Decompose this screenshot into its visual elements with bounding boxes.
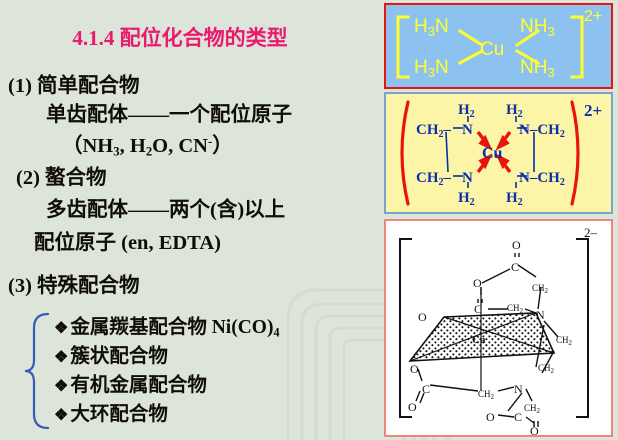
- label-o-left-lower: O: [410, 362, 419, 376]
- diamond-bullet-icon: ❖: [54, 349, 68, 366]
- outline-item-1: (1) 简单配合物: [8, 68, 140, 98]
- diamond-bullet-icon: ❖: [54, 320, 68, 337]
- figure-bis-ethylenediamine-copper: H2 H2 H2 H2 CH2– CH2– N N N–CH2 N–CH2 Cu…: [384, 92, 613, 214]
- ligand-h3n-top-left: H3N: [414, 16, 449, 39]
- label-n-bottom-left: N: [462, 170, 473, 186]
- label-h2-top-left: H2: [458, 102, 475, 120]
- outline-item-1b: （NH3, H2O, CN-）: [62, 128, 233, 160]
- label-o-left-upper: O: [418, 310, 427, 324]
- label-h2-top-right: H2: [506, 102, 523, 120]
- outline-column: 4.1.4 配位化合物的类型 (1) 简单配合物 单齿配体——一个配位原子 （N…: [0, 0, 378, 440]
- outline-item-1a: 单齿配体——一个配位原子: [46, 97, 292, 127]
- label-ch2-lower-right: CH2: [524, 403, 541, 415]
- page-title: 4.1.4 配位化合物的类型: [0, 22, 360, 52]
- en-structure-svg: H2 H2 H2 H2 CH2– CH2– N N N–CH2 N–CH2 Cu…: [386, 94, 611, 212]
- label-o-lower: O: [486, 410, 495, 424]
- bullet-carbonyl: ❖金属羰基配合物 Ni(CO)4: [54, 310, 280, 340]
- outline-item-2: (2) 螯合物: [16, 160, 107, 190]
- bullet-macrocyclic-label: 大环配合物: [70, 404, 168, 425]
- label-n-bottom-right: N–CH2: [519, 170, 565, 188]
- formula-h2o: H2O,: [130, 135, 179, 157]
- outline-item-2a: 多齿配体——两个(含)以上: [46, 192, 285, 222]
- edta-structure-svg: 2– Ca: [386, 221, 611, 435]
- bullet-macrocyclic: ❖大环配合物: [54, 397, 168, 426]
- charge-label-2plus: 2+: [584, 8, 602, 25]
- label-n-top-left: N: [462, 122, 473, 138]
- outline-item-2b: 配位原子 (en, EDTA): [34, 225, 221, 255]
- label-ch2-right-lower: CH2: [538, 363, 555, 375]
- label-c-upper-mid: C: [474, 302, 482, 316]
- diamond-bullet-icon: ❖: [54, 407, 68, 424]
- diamond-bullet-icon: ❖: [54, 378, 68, 395]
- formula-cn: CN-）: [178, 135, 232, 157]
- label-c-carboxyl-left: C: [422, 382, 430, 396]
- bullet-cluster-label: 簇状配合物: [70, 346, 168, 367]
- slide-root: 4.1.4 配位化合物的类型 (1) 简单配合物 单齿配体——一个配位原子 （N…: [0, 0, 618, 440]
- label-n-lower: N: [514, 382, 523, 396]
- label-n-upper: N: [536, 308, 545, 322]
- center-atom-cu: Cu: [482, 145, 503, 162]
- label-ch2-top-left: CH2–: [416, 122, 452, 140]
- label-o-carbonyl-top: O: [512, 238, 521, 252]
- label-ch2-lower-mid: CH2: [478, 389, 495, 401]
- label-h2-bottom-right: H2: [506, 190, 523, 208]
- outline-item-3: (3) 特殊配合物: [8, 268, 140, 298]
- label-h2-bottom-left: H2: [458, 190, 475, 208]
- bullet-organometallic-label: 有机金属配合物: [70, 375, 207, 396]
- label-ch2-right-upper: CH2: [556, 335, 573, 347]
- label-n-top-right: N–CH2: [519, 122, 565, 140]
- bullet-carbonyl-label: 金属羰基配合物 Ni(CO)4: [70, 317, 279, 338]
- figure-calcium-edta: 2– Ca: [384, 219, 613, 437]
- bullet-cluster: ❖簇状配合物: [54, 339, 168, 368]
- label-o-carbonyl-lower: O: [530, 424, 539, 435]
- label-o-carbonyl-left: O: [408, 400, 417, 414]
- ligand-nh3-top-right: NH3: [520, 16, 555, 39]
- bullet-organometallic: ❖有机金属配合物: [54, 368, 207, 397]
- label-c-carboxyl-top: C: [511, 260, 519, 274]
- center-atom-cu: Cu: [480, 39, 504, 60]
- center-atom-ca: Ca: [472, 334, 486, 346]
- group-brace: [22, 312, 52, 430]
- charge-label-2plus: 2+: [584, 101, 602, 120]
- charge-label-2minus: 2–: [584, 225, 598, 240]
- formula-nh3: （NH3,: [62, 135, 130, 157]
- ligand-h3n-bottom-left: H3N: [414, 57, 449, 80]
- label-o-top-left: O: [473, 276, 482, 290]
- ligand-nh3-bottom-right: NH3: [520, 57, 555, 80]
- figure-tetraammine-copper: H3N H3N NH3 NH3 Cu 2+: [384, 3, 613, 89]
- label-c-carboxyl-lower: C: [514, 410, 522, 424]
- ammine-structure-svg: H3N H3N NH3 NH3 Cu 2+: [386, 5, 611, 87]
- label-ch2-bottom-left: CH2–: [416, 170, 452, 188]
